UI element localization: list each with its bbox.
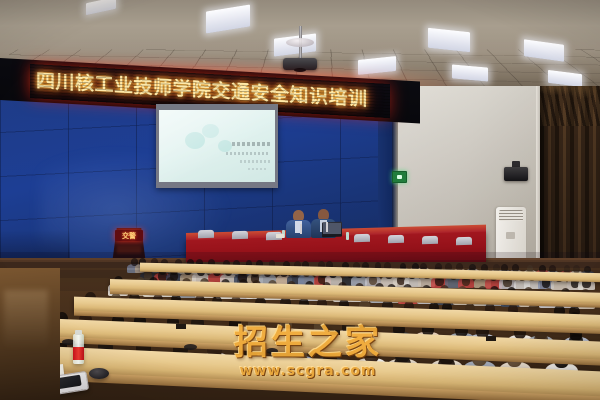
microphone	[300, 224, 302, 234]
exit-sign-icon	[392, 171, 407, 183]
water-bottle-label	[73, 347, 84, 360]
desk-leg	[176, 324, 186, 329]
chair-back	[354, 234, 370, 242]
podium-lower-glow	[117, 246, 141, 254]
table-paper	[276, 234, 284, 238]
projector-lens	[294, 68, 306, 72]
desk-leg	[330, 330, 340, 335]
water-bottle-cap	[75, 330, 82, 335]
table-bottle	[346, 232, 349, 240]
chair-back	[388, 235, 404, 243]
chair-back	[198, 230, 214, 238]
air-conditioner-vent	[499, 210, 523, 221]
conference-photo: 四川核工业技师学院交通安全知识培训 交警	[0, 0, 600, 400]
desk-leg	[486, 336, 496, 341]
wall-speaker-icon	[504, 167, 528, 181]
air-conditioner-panel	[506, 232, 515, 239]
microphone-base	[184, 344, 197, 350]
chair-back	[232, 231, 248, 239]
chair-back	[422, 236, 438, 244]
projector-ceiling-plate	[286, 38, 314, 47]
microphone-base	[89, 368, 109, 379]
microphone-base	[266, 348, 278, 354]
screen-glare	[159, 110, 275, 182]
chair-back	[456, 237, 472, 245]
podium-sign-text: 交警	[122, 231, 136, 241]
floor-reflection	[4, 290, 48, 350]
microphone	[326, 222, 328, 232]
exit-sign-glyph	[397, 175, 402, 179]
podium-led-sign: 交警	[115, 230, 143, 241]
